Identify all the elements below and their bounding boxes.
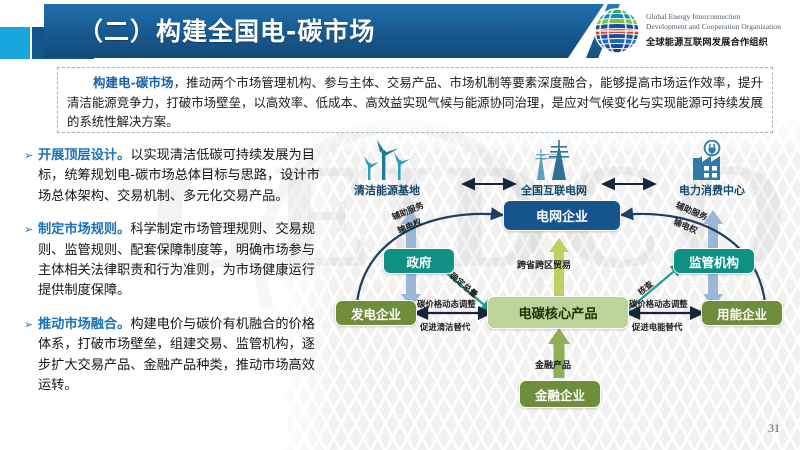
bullet-list: ➢ 开展顶层设计。以实现清洁低碳可持续发展为目标，统筹规划电-碳市场总体目标与思… (22, 146, 322, 409)
bullet-text: 开展顶层设计。以实现清洁低碳可持续发展为目标，统筹规划电-碳市场总体目标与思路，… (38, 146, 322, 207)
logo-en-line2: Development and Cooperation Organization (646, 22, 796, 32)
node-financial-firm[interactable]: 金融企业 (519, 380, 601, 408)
bullet-marker-icon: ➢ (22, 315, 38, 397)
bullet-heading: 开展顶层设计。 (38, 148, 130, 163)
logo-text-block: Global Energy Interconnection Developmen… (646, 12, 796, 48)
node-core-product[interactable]: 电碳核心产品 (487, 296, 629, 329)
node-grid-company[interactable]: 电网企业 (503, 200, 621, 231)
arrow-label-cross-province-trade: 跨省跨区贸易 (517, 258, 571, 271)
icon-label-consumption-center: 电力消费中心 (658, 182, 766, 198)
bullet-marker-icon: ➢ (22, 146, 38, 207)
arrow-label-financial-product: 金融产品 (535, 358, 571, 371)
icon-label-clean-energy-base: 清洁能源基地 (333, 182, 441, 198)
bullet-text: 推动市场融合。构建电价与碳价有机融合的价格体系，打破市场壁垒，组建交易、监管机构… (38, 315, 322, 397)
bullet-marker-icon: ➢ (22, 220, 38, 302)
node-energy-user[interactable]: 用能企业 (701, 300, 783, 326)
slide-header: （二）构建全国电-碳市场 (0, 0, 800, 66)
list-item: ➢ 开展顶层设计。以实现清洁低碳可持续发展为目标，统筹规划电-碳市场总体目标与思… (22, 146, 322, 207)
node-power-generator[interactable]: 发电企业 (335, 300, 417, 326)
arrow-label-carbon-price-left: 碳价格动态调整 (417, 298, 476, 310)
factory-plug-icon (677, 140, 747, 182)
logo-en-line1: Global Energy Interconnection (646, 12, 796, 22)
bullet-heading: 推动市场融合。 (38, 317, 130, 332)
arrow-label-clean-substitute: 促进清洁替代 (420, 321, 470, 333)
wind-turbine-icon (352, 140, 422, 182)
list-item: ➢ 制定市场规则。科学制定市场管理规则、交易规则、监管规则、配套保障制度等，明确… (22, 220, 322, 302)
page-number: 31 (768, 421, 780, 436)
logo-cn-line: 全球能源互联网发展合作组织 (646, 34, 796, 48)
page-title: （二）构建全国电-碳市场 (78, 12, 375, 48)
market-architecture-diagram: 清洁能源基地 全国互联电网 (325, 140, 800, 430)
intro-callout-box: 构建电-碳市场，推动两个市场管理机构、参与主体、交易产品、市场机制等要素深度融合… (57, 67, 773, 133)
globe-stripes-logo (592, 6, 642, 56)
icon-label-national-grid: 全国互联电网 (500, 182, 608, 198)
node-government[interactable]: 政府 (383, 248, 455, 274)
bullet-heading: 制定市场规则。 (38, 222, 130, 237)
bullet-text: 制定市场规则。科学制定市场管理规则、交易规则、监管规则、配套保障制度等，明确市场… (38, 220, 322, 302)
intro-lead: 构建电-碳市场 (93, 75, 174, 90)
header-accent-square-light (0, 27, 30, 59)
transmission-tower-icon (519, 140, 589, 182)
arrow-label-electric-substitute: 促进电能替代 (632, 321, 682, 333)
arrow-label-carbon-price-right: 碳价格动态调整 (629, 298, 688, 310)
node-regulator[interactable]: 监管机构 (673, 248, 755, 274)
slide-root: GEIDCO （二）构建全国电-碳市场 (0, 0, 800, 450)
intro-paragraph: 构建电-碳市场，推动两个市场管理机构、参与主体、交易产品、市场机制等要素深度融合… (67, 73, 763, 132)
list-item: ➢ 推动市场融合。构建电价与碳价有机融合的价格体系，打破市场壁垒，组建交易、监管… (22, 315, 322, 397)
